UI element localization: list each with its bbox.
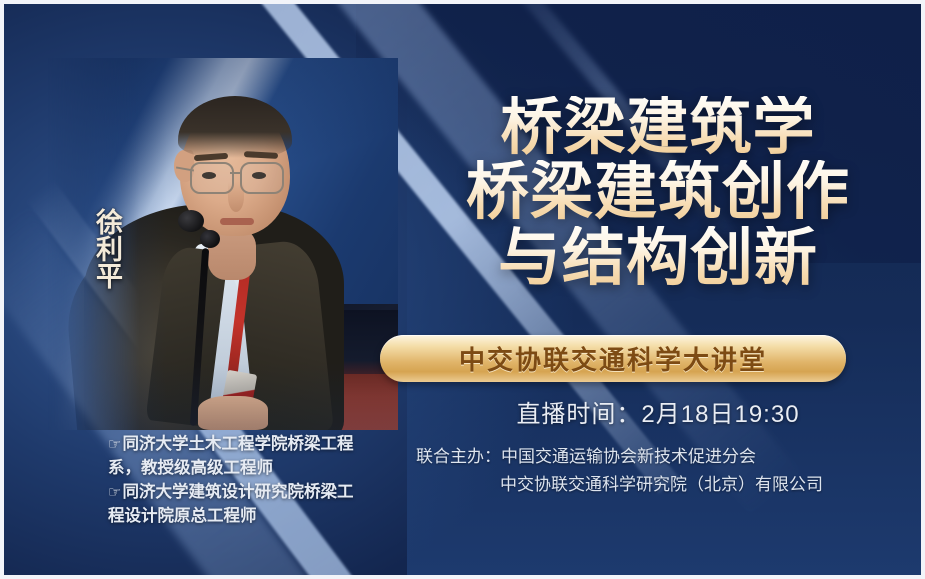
- webinar-poster: 徐利平 ☞同济大学土木工程学院桥梁工程 系，教授级高级工程师 ☞同济大学建筑设计…: [0, 0, 925, 579]
- title-line-2: 桥梁建筑创作: [400, 160, 916, 226]
- pointing-hand-icon: ☞: [108, 436, 121, 453]
- credential-line-1: ☞同济大学土木工程学院桥梁工程: [108, 432, 408, 456]
- credential-line-2: 系，教授级高级工程师: [108, 456, 408, 480]
- speaker-name: 徐利平: [88, 208, 122, 289]
- credential-text-1: 同济大学土木工程学院桥梁工程: [122, 435, 353, 453]
- live-time: 直播时间：2月18日19:30: [400, 394, 916, 429]
- title-line-1: 桥梁建筑学: [400, 96, 916, 160]
- organizers: 联合主办：中国交通运输协会新技术促进分会 中交协联交通科学研究院（北京）有限公司: [416, 443, 916, 498]
- series-badge: 中交协联交通科学大讲堂: [380, 335, 846, 382]
- speaker-credentials: ☞同济大学土木工程学院桥梁工程 系，教授级高级工程师 ☞同济大学建筑设计研究院桥…: [108, 432, 408, 528]
- pointing-hand-icon-2: ☞: [108, 484, 121, 501]
- series-badge-label: 中交协联交通科学大讲堂: [459, 340, 767, 377]
- credential-line-4: 程设计院原总工程师: [108, 504, 408, 528]
- title-line-3: 与结构创新: [400, 226, 916, 292]
- poster-title: 桥梁建筑学 桥梁建筑创作 与结构创新: [400, 96, 916, 292]
- organizer-line-2: 中交协联交通科学研究院（北京）有限公司: [416, 471, 916, 499]
- credential-text-3: 同济大学建筑设计研究院桥梁工: [122, 483, 353, 501]
- credential-line-3: ☞同济大学建筑设计研究院桥梁工: [108, 480, 408, 504]
- organizer-line-1: 联合主办：中国交通运输协会新技术促进分会: [416, 443, 916, 471]
